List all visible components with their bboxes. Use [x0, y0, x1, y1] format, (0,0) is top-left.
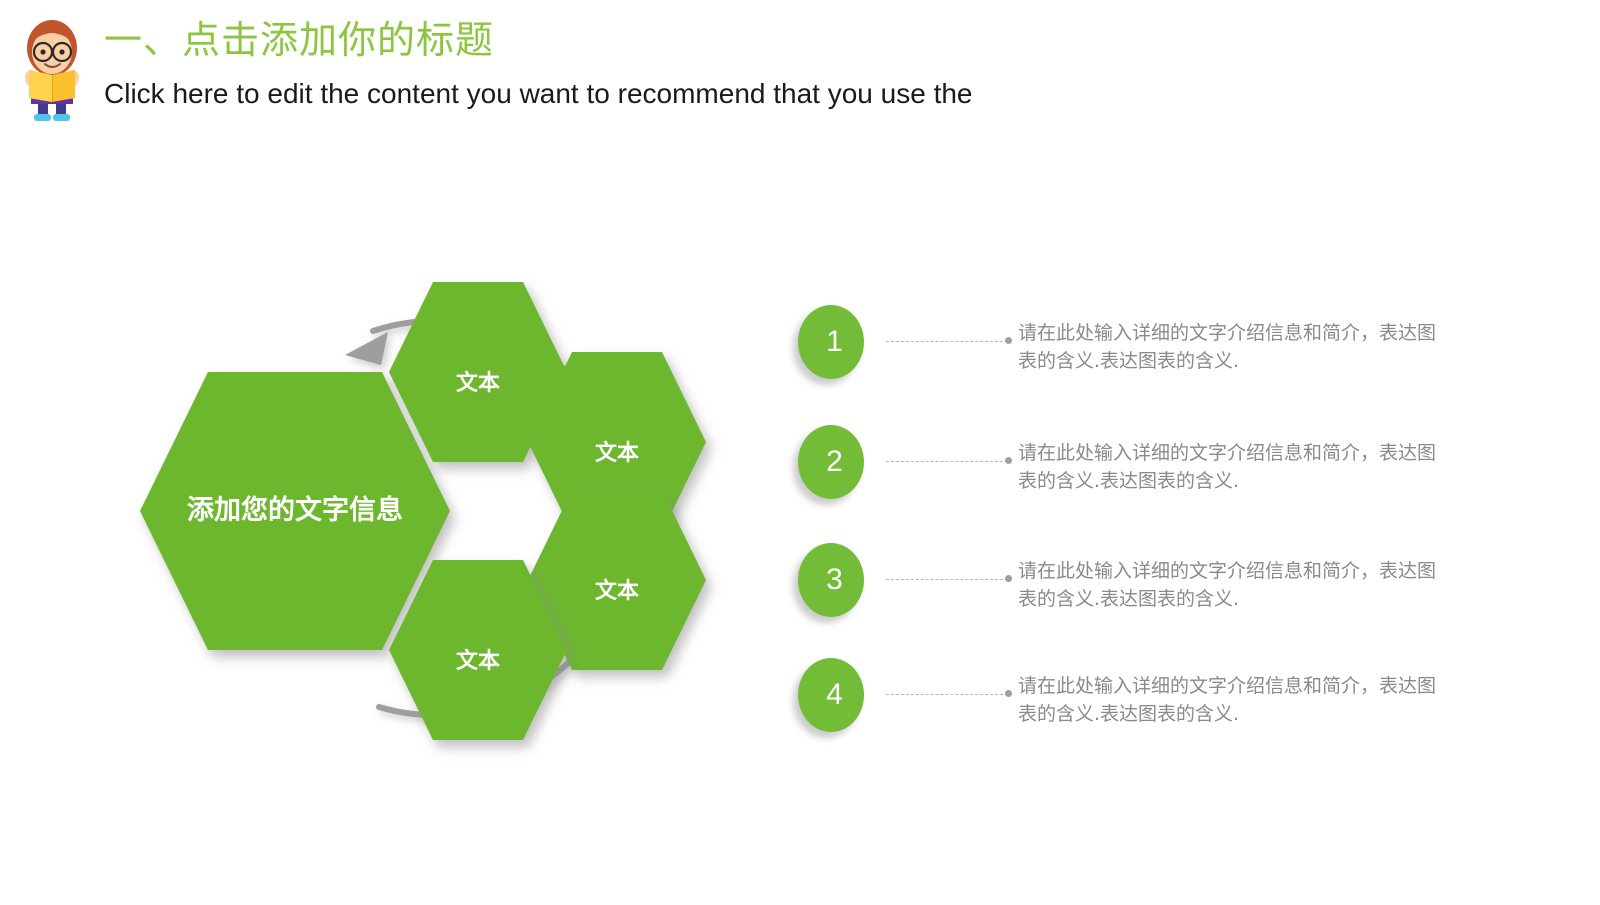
item-connector-line [886, 579, 1008, 582]
hexagon-main-label: 添加您的文字信息 [187, 494, 403, 525]
item-description: 请在此处输入详细的文字介绍信息和简介，表达图表的含义.表达图表的含义. [1018, 319, 1438, 375]
item-connector-dot [1005, 337, 1012, 344]
item-description: 请在此处输入详细的文字介绍信息和简介，表达图表的含义.表达图表的含义. [1018, 557, 1438, 613]
hexagon-small-bottom-label: 文本 [456, 648, 500, 673]
hexagon-cycle-diagram: 添加您的文字信息 文本 文本 文本 文本 [130, 260, 810, 760]
slide-body: 添加您的文字信息 文本 文本 文本 文本 [0, 150, 1600, 900]
item-number-badge[interactable]: 2 [798, 425, 864, 499]
hexagon-small-lower-right-label: 文本 [595, 578, 639, 603]
list-item[interactable]: 1 请在此处输入详细的文字介绍信息和简介，表达图表的含义.表达图表的含义. [790, 305, 1550, 425]
slide-header: 一、点击添加你的标题 Click here to edit the conten… [0, 0, 1600, 140]
page-title: 一、点击添加你的标题 [104, 16, 1304, 66]
numbered-item-list: 1 请在此处输入详细的文字介绍信息和简介，表达图表的含义.表达图表的含义. 2 … [790, 305, 1550, 905]
item-number-badge[interactable]: 4 [798, 658, 864, 732]
item-description: 请在此处输入详细的文字介绍信息和简介，表达图表的含义.表达图表的含义. [1018, 672, 1438, 728]
child-reading-book-icon [14, 14, 90, 124]
item-connector-line [886, 461, 1008, 464]
item-number: 4 [819, 680, 843, 710]
item-connector-line [886, 341, 1008, 344]
page-subtitle: Click here to edit the content you want … [104, 76, 1304, 112]
list-item[interactable]: 4 请在此处输入详细的文字介绍信息和简介，表达图表的含义.表达图表的含义. [790, 658, 1550, 778]
hexagon-small-upper-right-label: 文本 [595, 440, 639, 465]
title-block: 一、点击添加你的标题 Click here to edit the conten… [104, 16, 1304, 112]
item-number: 2 [819, 447, 843, 477]
item-connector-line [886, 694, 1008, 697]
item-number: 3 [819, 565, 843, 595]
item-connector-dot [1005, 457, 1012, 464]
item-connector-dot [1005, 575, 1012, 582]
item-number-badge[interactable]: 1 [798, 305, 864, 379]
item-number: 1 [819, 327, 843, 357]
item-connector-dot [1005, 690, 1012, 697]
hexagon-small-top-label: 文本 [456, 370, 500, 395]
list-item[interactable]: 2 请在此处输入详细的文字介绍信息和简介，表达图表的含义.表达图表的含义. [790, 425, 1550, 545]
item-number-badge[interactable]: 3 [798, 543, 864, 617]
item-description: 请在此处输入详细的文字介绍信息和简介，表达图表的含义.表达图表的含义. [1018, 439, 1438, 495]
list-item[interactable]: 3 请在此处输入详细的文字介绍信息和简介，表达图表的含义.表达图表的含义. [790, 543, 1550, 663]
